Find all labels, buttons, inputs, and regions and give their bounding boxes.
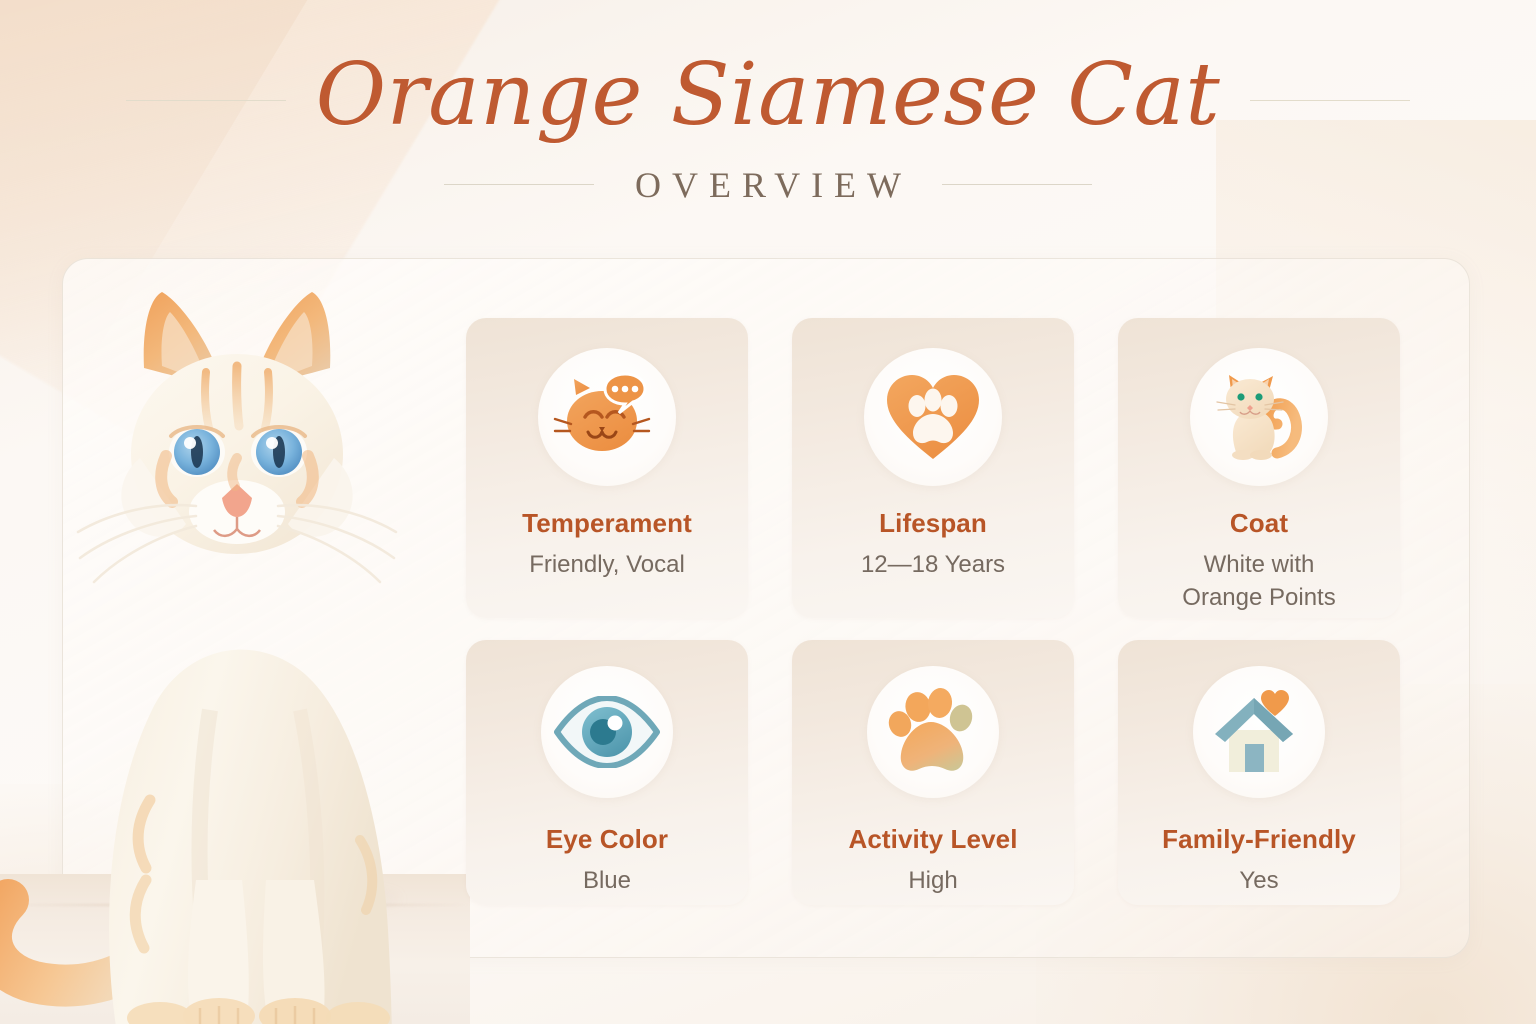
card-value: Yes: [1239, 864, 1278, 897]
eye-icon: [553, 696, 661, 768]
title-rule-right: [1250, 100, 1410, 101]
subtitle-row: OVERVIEW: [0, 164, 1536, 206]
card-title: Eye Color: [546, 824, 668, 855]
icon-bubble: [541, 666, 673, 798]
sitting-cat-icon: [1207, 367, 1311, 467]
card-coat[interactable]: Coat White with Orange Points: [1118, 318, 1400, 618]
paw-print-icon: [885, 684, 981, 780]
card-title: Family-Friendly: [1162, 824, 1356, 855]
icon-bubble: [1190, 348, 1328, 486]
card-value: High: [908, 864, 957, 897]
icon-bubble: [538, 348, 676, 486]
subtitle-rule-left: [444, 184, 594, 185]
icon-bubble: [867, 666, 999, 798]
subtitle-rule-right: [942, 184, 1092, 185]
card-activity-level[interactable]: Activity Level High: [792, 640, 1074, 905]
card-value: Friendly, Vocal: [529, 548, 685, 581]
title-row: Orange Siamese Cat: [0, 52, 1536, 150]
icon-bubble: [864, 348, 1002, 486]
attributes-grid: Temperament Friendly, Vocal Lifespan 12—…: [466, 318, 1406, 905]
card-temperament[interactable]: Temperament Friendly, Vocal: [466, 318, 748, 618]
card-eye-color[interactable]: Eye Color Blue: [466, 640, 748, 905]
card-value: White with Orange Points: [1182, 548, 1335, 614]
cat-photo: [0, 240, 470, 1024]
page-subtitle: OVERVIEW: [624, 164, 912, 206]
card-family-friendly[interactable]: Family-Friendly Yes: [1118, 640, 1400, 905]
house-heart-icon: [1207, 686, 1311, 778]
card-lifespan[interactable]: Lifespan 12—18 Years: [792, 318, 1074, 618]
icon-bubble: [1193, 666, 1325, 798]
card-title: Coat: [1230, 508, 1288, 539]
card-title: Activity Level: [848, 824, 1017, 855]
heart-paw-icon: [883, 369, 983, 465]
page-title: Orange Siamese Cat: [312, 52, 1225, 150]
header: Orange Siamese Cat OVERVIEW: [0, 52, 1536, 206]
card-value: Blue: [583, 864, 631, 897]
title-rule-left: [126, 100, 286, 101]
card-value: 12—18 Years: [861, 548, 1005, 581]
cat-illustration: [0, 240, 470, 1024]
cat-face-speech-bubble-icon: [553, 369, 661, 465]
card-title: Lifespan: [879, 508, 987, 539]
card-title: Temperament: [522, 508, 692, 539]
